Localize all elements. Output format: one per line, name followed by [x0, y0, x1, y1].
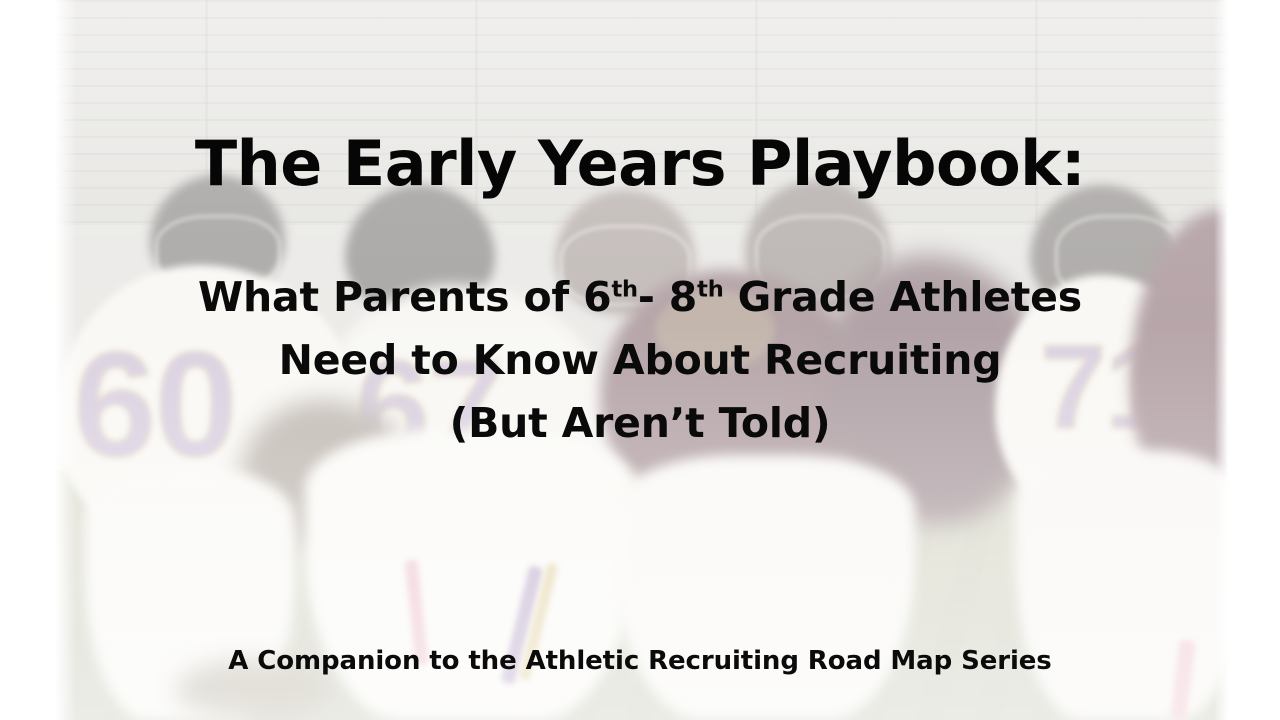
subtitle-line-3: (But Aren’t Told): [0, 392, 1280, 455]
slide-subtitle: What Parents of 6th- 8th Grade Athletes …: [0, 266, 1280, 455]
subtitle-line-1-part-b: - 8: [638, 273, 697, 321]
subtitle-line-1: What Parents of 6th- 8th Grade Athletes: [0, 266, 1280, 329]
text-layer: The Early Years Playbook: What Parents o…: [0, 0, 1280, 720]
subtitle-ordinal-sup-6th: th: [611, 276, 637, 302]
slide-canvas: 60 67 71 The Ea: [0, 0, 1280, 720]
subtitle-line-1-part-c: Grade Athletes: [724, 273, 1082, 321]
subtitle-line-2: Need to Know About Recruiting: [0, 329, 1280, 392]
subtitle-ordinal-sup-8th: th: [697, 276, 723, 302]
slide-footnote: A Companion to the Athletic Recruiting R…: [0, 648, 1280, 674]
slide-title: The Early Years Playbook:: [0, 133, 1280, 195]
subtitle-line-1-part-a: What Parents of 6: [198, 273, 611, 321]
